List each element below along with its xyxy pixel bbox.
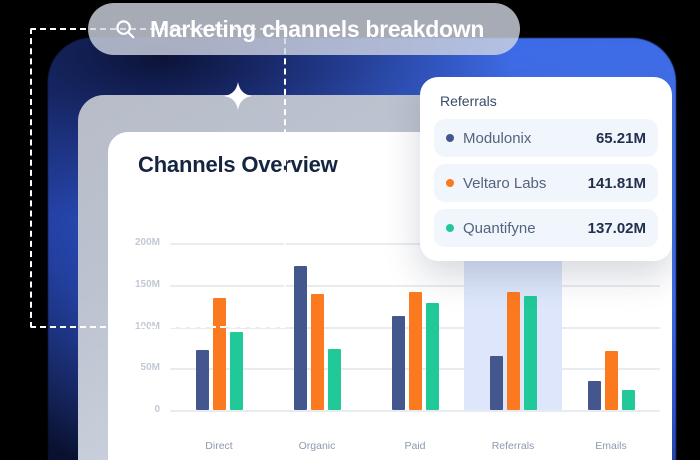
y-axis-tick-label: 0 — [108, 404, 160, 415]
y-axis-tick-label: 50M — [108, 362, 160, 373]
series-name: Modulonix — [463, 130, 596, 147]
x-axis-tick-label: Direct — [205, 440, 232, 452]
search-bar[interactable]: Marketing channels breakdown — [88, 3, 520, 55]
search-query-text: Marketing channels breakdown — [150, 16, 484, 43]
selection-marquee — [30, 28, 286, 328]
chart-tooltip: Referrals Modulonix65.21MVeltaro Labs141… — [420, 77, 672, 261]
series-color-dot — [446, 134, 454, 142]
series-name: Quantifyne — [463, 220, 588, 237]
bar[interactable] — [294, 266, 307, 410]
series-value: 141.81M — [588, 175, 646, 192]
series-value: 137.02M — [588, 220, 646, 237]
series-color-dot — [446, 224, 454, 232]
bar[interactable] — [524, 296, 537, 410]
bar[interactable] — [507, 292, 520, 410]
bar[interactable] — [196, 350, 209, 410]
x-axis-tick-label: Referrals — [492, 440, 535, 452]
bar[interactable] — [409, 292, 422, 410]
bar[interactable] — [230, 332, 243, 410]
screenshot-stage: Channels Overview 200M150M100M50M0Direct… — [0, 0, 700, 460]
tooltip-rows: Modulonix65.21MVeltaro Labs141.81MQuanti… — [434, 119, 658, 247]
series-name: Veltaro Labs — [463, 175, 588, 192]
gridline — [170, 410, 660, 412]
bar[interactable] — [311, 294, 324, 410]
bar[interactable] — [622, 390, 635, 410]
bar[interactable] — [490, 356, 503, 410]
tooltip-row: Quantifyne137.02M — [434, 209, 658, 247]
tooltip-title: Referrals — [434, 91, 658, 119]
bar[interactable] — [605, 351, 618, 410]
sparkle-icon — [222, 80, 254, 112]
bar[interactable] — [392, 316, 405, 410]
tooltip-row: Modulonix65.21M — [434, 119, 658, 157]
series-value: 65.21M — [596, 130, 646, 147]
bar[interactable] — [328, 349, 341, 410]
bar[interactable] — [588, 381, 601, 410]
bar[interactable] — [426, 303, 439, 410]
x-axis-tick-label: Emails — [595, 440, 627, 452]
series-color-dot — [446, 179, 454, 187]
tooltip-row: Veltaro Labs141.81M — [434, 164, 658, 202]
search-icon — [114, 18, 136, 40]
x-axis-tick-label: Organic — [299, 440, 336, 452]
x-axis-tick-label: Paid — [404, 440, 425, 452]
